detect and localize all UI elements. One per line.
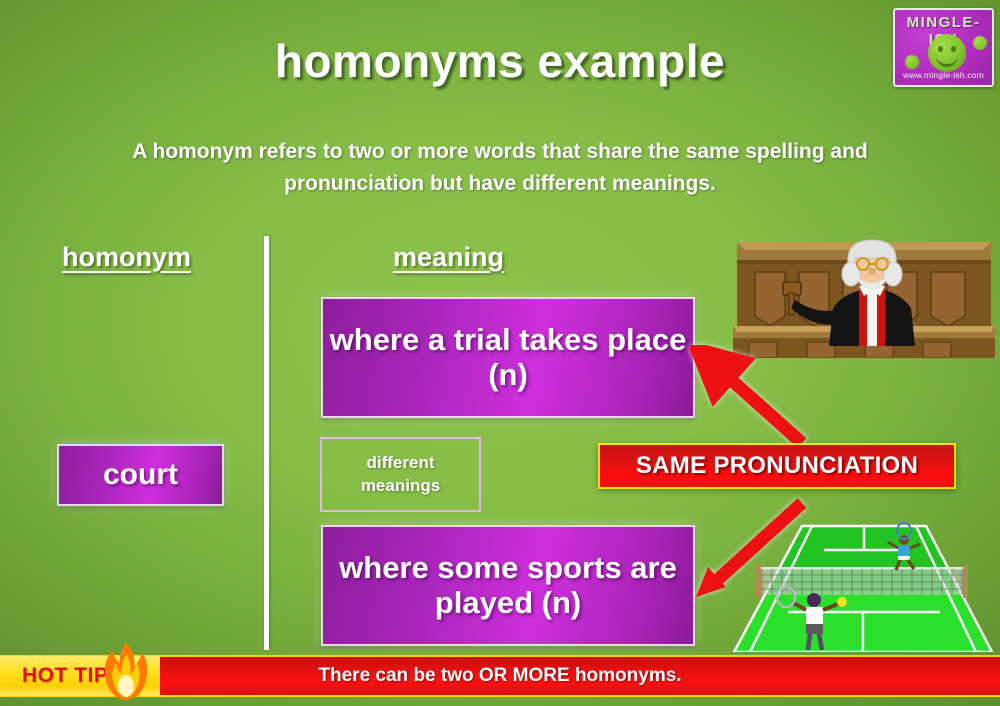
arrow-to-sports-meaning-icon [690, 495, 814, 601]
different-meanings-line1: different [366, 453, 434, 472]
hot-tip-text: There can be two OR MORE homonyms. [318, 665, 681, 687]
different-meanings-note: different meanings [320, 437, 481, 512]
page-subtitle: A homonym refers to two or more words th… [60, 136, 940, 200]
column-header-meaning: meaning [393, 242, 504, 273]
meaning-box-trial: where a trial takes place (n) [321, 297, 695, 418]
column-header-homonym: homonym [62, 242, 191, 273]
judge-in-courtroom-illustration [733, 238, 995, 358]
hot-tip-badge-label: HOT TIP [22, 664, 108, 688]
different-meanings-line2: meanings [361, 476, 440, 495]
meaning-box-sports: where some sports are played (n) [321, 525, 695, 646]
flame-icon [100, 640, 152, 702]
arrow-to-trial-meaning-icon [690, 345, 814, 451]
page-title: homonyms example [0, 34, 1000, 88]
infographic-canvas: MINGLE-ISH www.mingle-ish.com homonyms e… [0, 0, 1000, 706]
same-pronunciation-banner: SAME PRONUNCIATION [598, 443, 956, 489]
column-divider [264, 236, 269, 650]
homonym-word-box: court [57, 444, 224, 506]
